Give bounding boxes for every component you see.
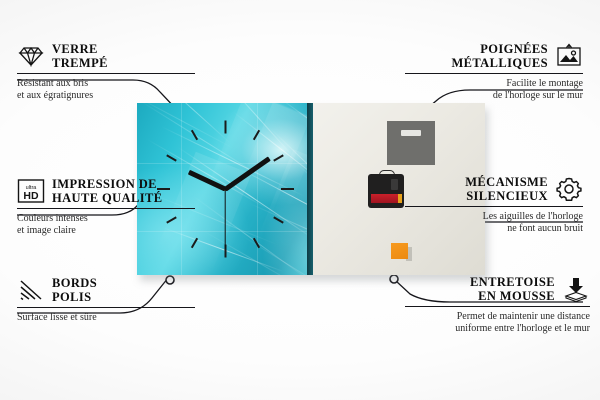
feature-subtitle: Facilite le montage de l'horloge sur le …	[405, 78, 583, 102]
feature-mecanisme-silencieux: MÉCANISME SILENCIEUX Les aiguilles de l'…	[405, 175, 583, 235]
clock-second-hand	[224, 189, 225, 249]
battery	[371, 194, 398, 203]
mechanism-shaft	[391, 179, 398, 190]
feature-title: ENTRETOISE EN MOUSSE	[470, 275, 555, 303]
feature-divider	[405, 73, 583, 74]
clock-mechanism	[368, 170, 404, 208]
feature-subtitle: Les aiguilles de l'horloge ne font aucun…	[405, 211, 583, 235]
ultra-hd-icon: ultra HD	[17, 177, 45, 205]
feature-title: MÉCANISME SILENCIEUX	[465, 175, 548, 203]
glass-seam	[137, 163, 313, 164]
feature-poignees-metalliques: POIGNÉES MÉTALLIQUES Facilite le montage…	[405, 42, 583, 102]
feature-header: BORDS POLIS	[17, 276, 195, 304]
feature-subtitle: Surface lisse et sûre	[17, 312, 195, 324]
clock-hour-marker	[281, 188, 294, 190]
svg-text:HD: HD	[23, 190, 39, 202]
feature-impression-haute-qualite: ultra HD IMPRESSION DE HAUTE QUALITÉ Cou…	[17, 177, 195, 237]
infographic-canvas: VERRE TREMPÉ Résistant aux bris et aux é…	[0, 0, 600, 400]
feature-subtitle: Résistant aux bris et aux égratignures	[17, 78, 195, 102]
feature-divider	[405, 206, 583, 207]
feature-header: POIGNÉES MÉTALLIQUES	[405, 42, 583, 70]
feature-header: MÉCANISME SILENCIEUX	[405, 175, 583, 203]
gear-icon	[555, 175, 583, 203]
feature-title: VERRE TREMPÉ	[52, 42, 108, 70]
feature-divider	[17, 307, 195, 308]
clock-hour-marker	[224, 121, 226, 134]
feature-entretoise-en-mousse: ENTRETOISE EN MOUSSE Permet de maintenir…	[405, 275, 590, 335]
feature-header: VERRE TREMPÉ	[17, 42, 195, 70]
feature-title: POIGNÉES MÉTALLIQUES	[451, 42, 548, 70]
picture-hanging-icon	[555, 42, 583, 70]
battery-tip	[398, 194, 402, 203]
feature-divider	[17, 208, 195, 209]
feature-divider	[17, 73, 195, 74]
feature-subtitle: Permet de maintenir une distance uniform…	[405, 311, 590, 335]
feature-title: BORDS POLIS	[52, 276, 97, 304]
feather-streak	[156, 103, 231, 143]
feature-bords-polis: BORDS POLIS Surface lisse et sûre	[17, 276, 195, 324]
spacer-arrow-icon	[562, 275, 590, 303]
diamond-icon	[17, 42, 45, 70]
hanger-slot	[401, 130, 421, 136]
feature-header: ultra HD IMPRESSION DE HAUTE QUALITÉ	[17, 177, 195, 205]
polished-edges-icon	[17, 276, 45, 304]
metal-hanger-plate	[387, 121, 435, 165]
feature-subtitle: Couleurs intenses et image claire	[17, 213, 195, 237]
feature-verre-trempe: VERRE TREMPÉ Résistant aux bris et aux é…	[17, 42, 195, 102]
glass-edge	[307, 103, 313, 275]
feature-header: ENTRETOISE EN MOUSSE	[405, 275, 590, 303]
foam-spacer	[391, 243, 408, 259]
feature-title: IMPRESSION DE HAUTE QUALITÉ	[52, 177, 162, 205]
feature-divider	[405, 306, 590, 307]
